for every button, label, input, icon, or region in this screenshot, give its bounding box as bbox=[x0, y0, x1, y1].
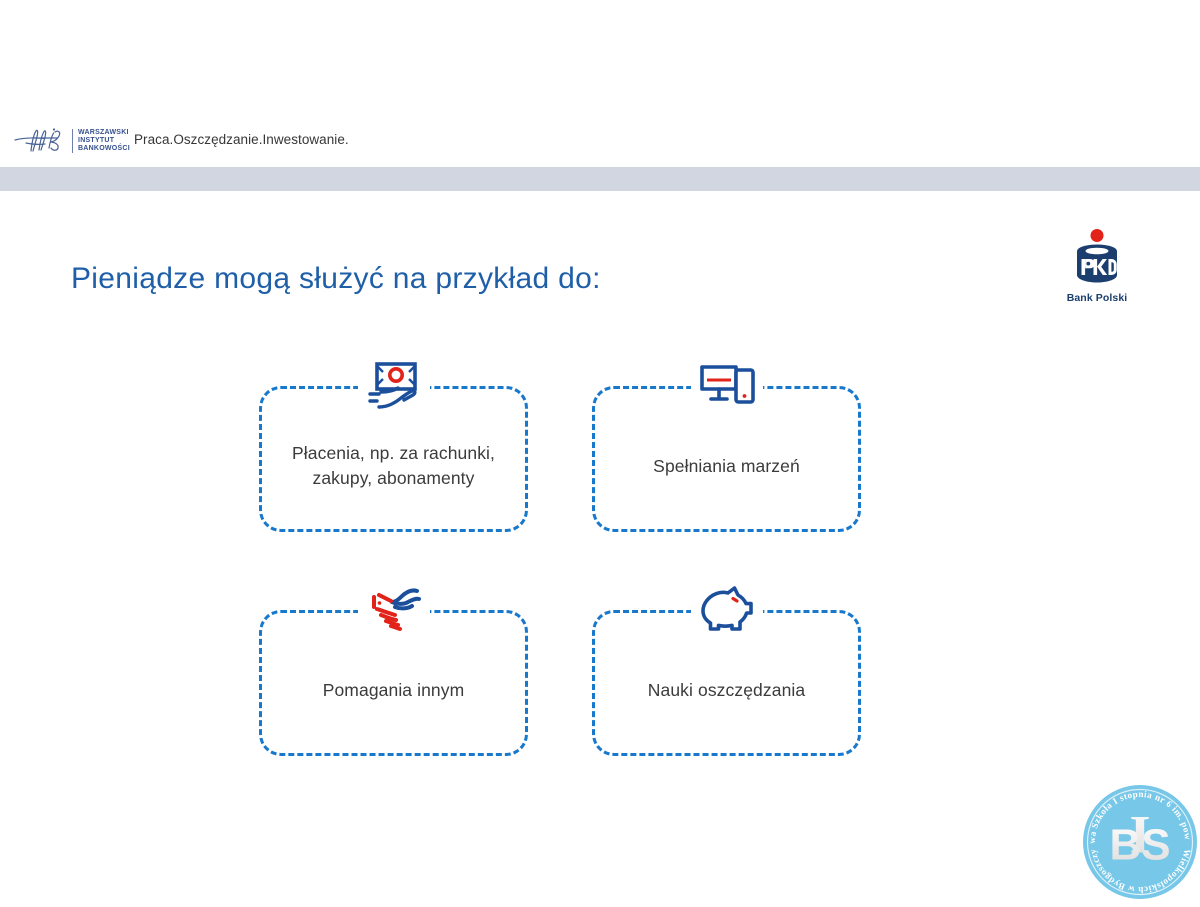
cards-grid: Płacenia, np. za rachunki, zakupy, abona… bbox=[259, 386, 861, 756]
wib-signature-icon bbox=[14, 125, 70, 157]
wib-logo-line1: WARSZAWSKI bbox=[78, 129, 130, 137]
info-card-saving[interactable]: Nauki oszczędzania bbox=[592, 610, 861, 756]
page-title: Pieniądze mogą służyć na przykład do: bbox=[71, 262, 601, 296]
info-card-label: Nauki oszczędzania bbox=[648, 678, 805, 703]
wib-logo-line2: INSTYTUT bbox=[78, 137, 130, 145]
info-card-label: Pomagania innym bbox=[323, 678, 465, 703]
pko-drum-icon bbox=[1066, 228, 1128, 290]
header-divider-band bbox=[0, 167, 1200, 191]
pko-bank-polski-logo: Bank Polski bbox=[1062, 228, 1132, 308]
info-card-label: Spełniania marzeń bbox=[653, 454, 800, 479]
seal-monogram: BS bbox=[1109, 821, 1170, 870]
handshake-icon bbox=[358, 581, 430, 639]
info-card-dreams[interactable]: Spełniania marzeń bbox=[592, 386, 861, 532]
wib-logo-wordmark: WARSZAWSKI INSTYTUT BANKOWOŚCI bbox=[72, 129, 130, 154]
info-card-payments[interactable]: Płacenia, np. za rachunki, zakupy, abona… bbox=[259, 386, 528, 532]
wib-logo-line3: BANKOWOŚCI bbox=[78, 145, 130, 153]
pko-logo-caption: Bank Polski bbox=[1062, 292, 1132, 304]
monitor-and-smartphone-icon bbox=[691, 357, 763, 415]
hand-holding-banknote-icon bbox=[358, 357, 430, 415]
piggy-bank-icon bbox=[691, 581, 763, 639]
header-tagline: Praca.Oszczędzanie.Inwestowanie. bbox=[134, 132, 349, 147]
info-card-helping[interactable]: Pomagania innym bbox=[259, 610, 528, 756]
info-card-label: Płacenia, np. za rachunki, zakupy, abona… bbox=[276, 441, 511, 491]
school-seal-watermark: Branżowa Szkoła I stopnia nr 6 im. powst… bbox=[1080, 782, 1200, 902]
wib-logo: WARSZAWSKI INSTYTUT BANKOWOŚCI bbox=[14, 124, 126, 158]
slide-header: WARSZAWSKI INSTYTUT BANKOWOŚCI Praca.Osz… bbox=[0, 0, 1200, 167]
